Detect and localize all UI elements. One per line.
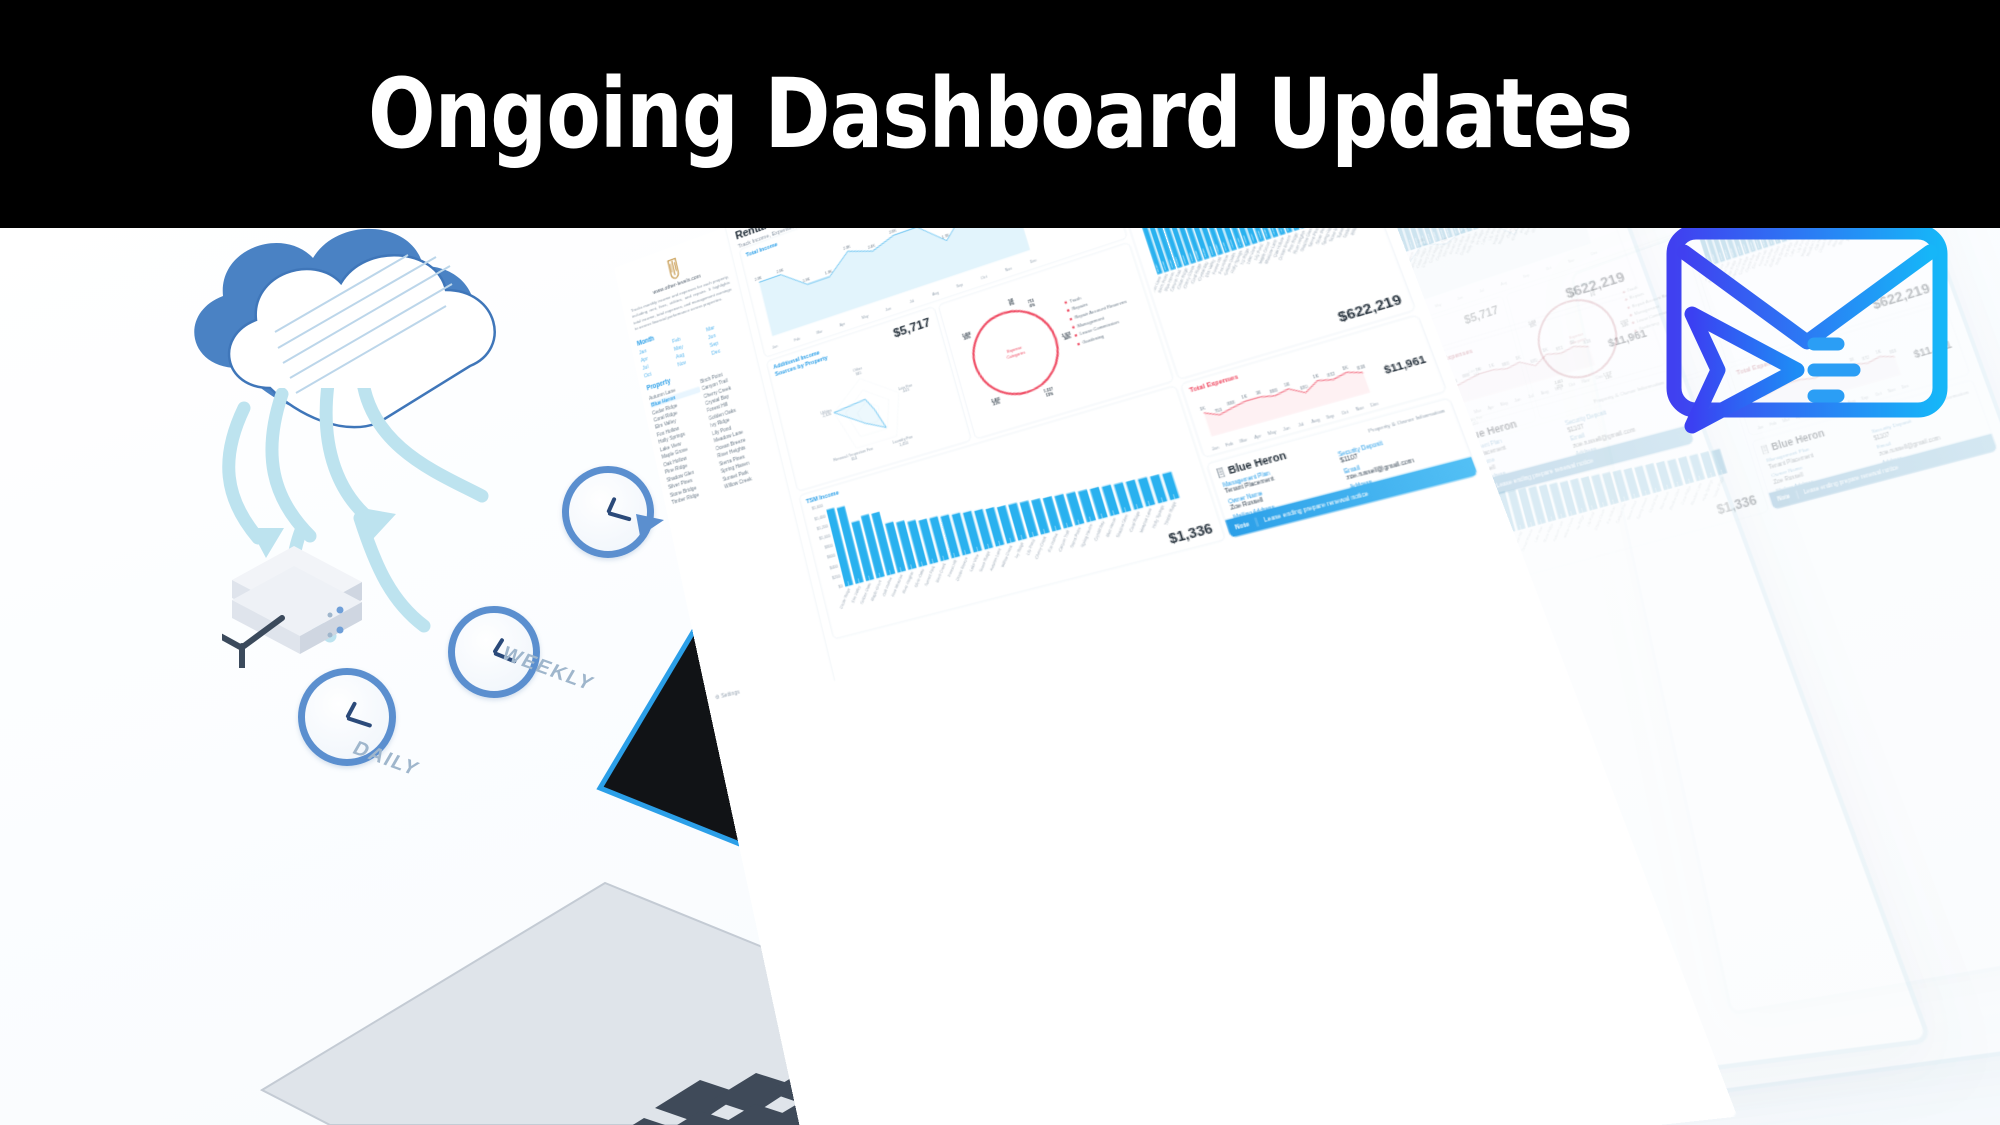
svg-text:$0: $0: [838, 584, 843, 590]
banner-bar: Ongoing Dashboard Updates: [0, 0, 2000, 228]
svg-text:Maple Grove: Maple Grove: [870, 579, 883, 602]
svg-text:30%: 30%: [963, 335, 971, 342]
svg-text:$1,200: $1,200: [817, 524, 829, 532]
svg-text:2.8K: 2.8K: [888, 228, 897, 235]
svg-text:2.8K: 2.8K: [843, 244, 852, 251]
email-send-icon: [1662, 228, 1952, 438]
svg-text:$800: $800: [824, 544, 833, 551]
svg-text:443: 443: [903, 387, 910, 393]
svg-text:1.9K: 1.9K: [802, 277, 811, 284]
svg-text:13%: 13%: [1045, 391, 1054, 398]
svg-text:2.8K: 2.8K: [754, 275, 763, 282]
svg-text:Ivy Ridge: Ivy Ridge: [1014, 541, 1025, 559]
svg-text:Cedar Ridge: Cedar Ridge: [839, 587, 851, 609]
svg-text:Aug: Aug: [1311, 417, 1321, 424]
svg-text:Apr: Apr: [1254, 433, 1264, 440]
svg-text:9%: 9%: [1009, 301, 1016, 307]
total-expenses-value: $11,961: [1382, 353, 1427, 376]
svg-text:Apr: Apr: [839, 321, 846, 327]
svg-text:Sep: Sep: [956, 282, 964, 289]
svg-text:Timber Ridge: Timber Ridge: [1163, 501, 1177, 526]
svg-text:Willow Creek: Willow Creek: [1000, 544, 1013, 568]
svg-text:Willow Creek: Willow Creek: [1350, 228, 1365, 236]
svg-text:Jun: Jun: [885, 306, 892, 312]
svg-text:$1,600: $1,600: [812, 504, 824, 512]
svg-text:1K: 1K: [1255, 389, 1263, 396]
svg-text:Birch Creek: Birch Creek: [935, 562, 947, 584]
banner-title: Ongoing Dashboard Updates: [368, 66, 1632, 162]
svg-text:1K: 1K: [1283, 381, 1291, 388]
svg-text:1K: 1K: [1241, 393, 1249, 400]
screenshot-root: Ongoing Dashboard Updates: [0, 0, 2000, 1125]
svg-text:883: 883: [1269, 388, 1278, 395]
note-label: Note: [1234, 520, 1250, 530]
settings-button[interactable]: ⚙ Settings: [715, 688, 741, 701]
svg-text:Jul: Jul: [909, 298, 915, 304]
svg-text:Sunset Park: Sunset Park: [924, 565, 937, 587]
svg-text:Cherry Creek: Cherry Creek: [1034, 535, 1048, 560]
svg-text:Crystal Bay: Crystal Bay: [1093, 520, 1106, 542]
svg-text:Spring Haven: Spring Haven: [1080, 523, 1094, 548]
svg-text:Sep: Sep: [1325, 413, 1335, 420]
svg-text:2,326: 2,326: [822, 411, 832, 418]
svg-text:Mar: Mar: [816, 328, 824, 335]
svg-text:Aug: Aug: [932, 290, 940, 297]
svg-text:Autumn Lane: Autumn Lane: [989, 547, 1003, 571]
svg-text:$600: $600: [827, 554, 836, 561]
svg-text:Jun: Jun: [1282, 425, 1291, 432]
svg-text:753: 753: [1214, 407, 1223, 414]
svg-text:Oct: Oct: [980, 274, 987, 280]
svg-text:Meadow Lane: Meadow Lane: [1138, 507, 1153, 533]
svg-text:Nov: Nov: [1355, 405, 1365, 412]
building-icon: [1216, 467, 1226, 478]
svg-text:Golden Oaks: Golden Oaks: [859, 581, 872, 604]
svg-text:945: 945: [855, 370, 862, 376]
svg-text:Pine Meadow: Pine Meadow: [891, 573, 904, 598]
svg-text:Jul: Jul: [1297, 422, 1305, 429]
svg-text:1K: 1K: [1312, 372, 1320, 379]
svg-text:Holly Springs: Holly Springs: [1151, 504, 1165, 529]
svg-text:Jan: Jan: [1211, 445, 1220, 452]
svg-text:Oct: Oct: [1341, 409, 1350, 416]
svg-text:$400: $400: [829, 564, 838, 571]
svg-text:34%: 34%: [1063, 335, 1072, 342]
svg-text:May: May: [861, 313, 869, 320]
svg-text:May: May: [1267, 429, 1277, 436]
illustration-scene: DAILY WEEKLY Month: [0, 228, 2000, 1125]
svg-text:Dec: Dec: [1029, 257, 1037, 264]
svg-text:Canyon Trail: Canyon Trail: [1057, 529, 1070, 553]
svg-text:Shadow Glen: Shadow Glen: [1115, 513, 1129, 538]
svg-text:6%: 6%: [1029, 302, 1036, 308]
expense-legend: TrashRepairsRepair Account ReservesManag…: [1063, 281, 1136, 349]
svg-text:Jan: Jan: [772, 344, 779, 350]
svg-text:Feb: Feb: [794, 336, 801, 342]
svg-text:2.8K: 2.8K: [776, 267, 785, 274]
svg-text:Dec: Dec: [1370, 401, 1380, 408]
svg-text:888: 888: [1227, 400, 1236, 407]
svg-text:Feb: Feb: [1225, 441, 1234, 448]
dashboard-main: Rental Property Performance Dashboard Tr…: [725, 228, 1507, 681]
svg-text:872: 872: [1327, 371, 1336, 378]
svg-text:$1,000: $1,000: [819, 534, 831, 542]
svg-text:21%: 21%: [993, 400, 1002, 407]
svg-text:River Heights: River Heights: [901, 570, 914, 594]
svg-text:Nov: Nov: [1005, 266, 1013, 273]
svg-text:1,450: 1,450: [899, 440, 909, 447]
svg-text:Mar: Mar: [1239, 437, 1249, 444]
svg-text:654: 654: [851, 455, 858, 461]
svg-text:1K: 1K: [1199, 405, 1207, 412]
brand-logo-icon: [663, 256, 683, 282]
svg-text:$200: $200: [832, 574, 841, 581]
svg-text:1K: 1K: [1341, 364, 1349, 371]
svg-text:Lily Pond: Lily Pond: [1025, 538, 1036, 556]
svg-text:818: 818: [1357, 364, 1367, 371]
svg-text:$1,400: $1,400: [814, 514, 826, 522]
svg-text:Ocean Breeze: Ocean Breeze: [955, 556, 969, 582]
